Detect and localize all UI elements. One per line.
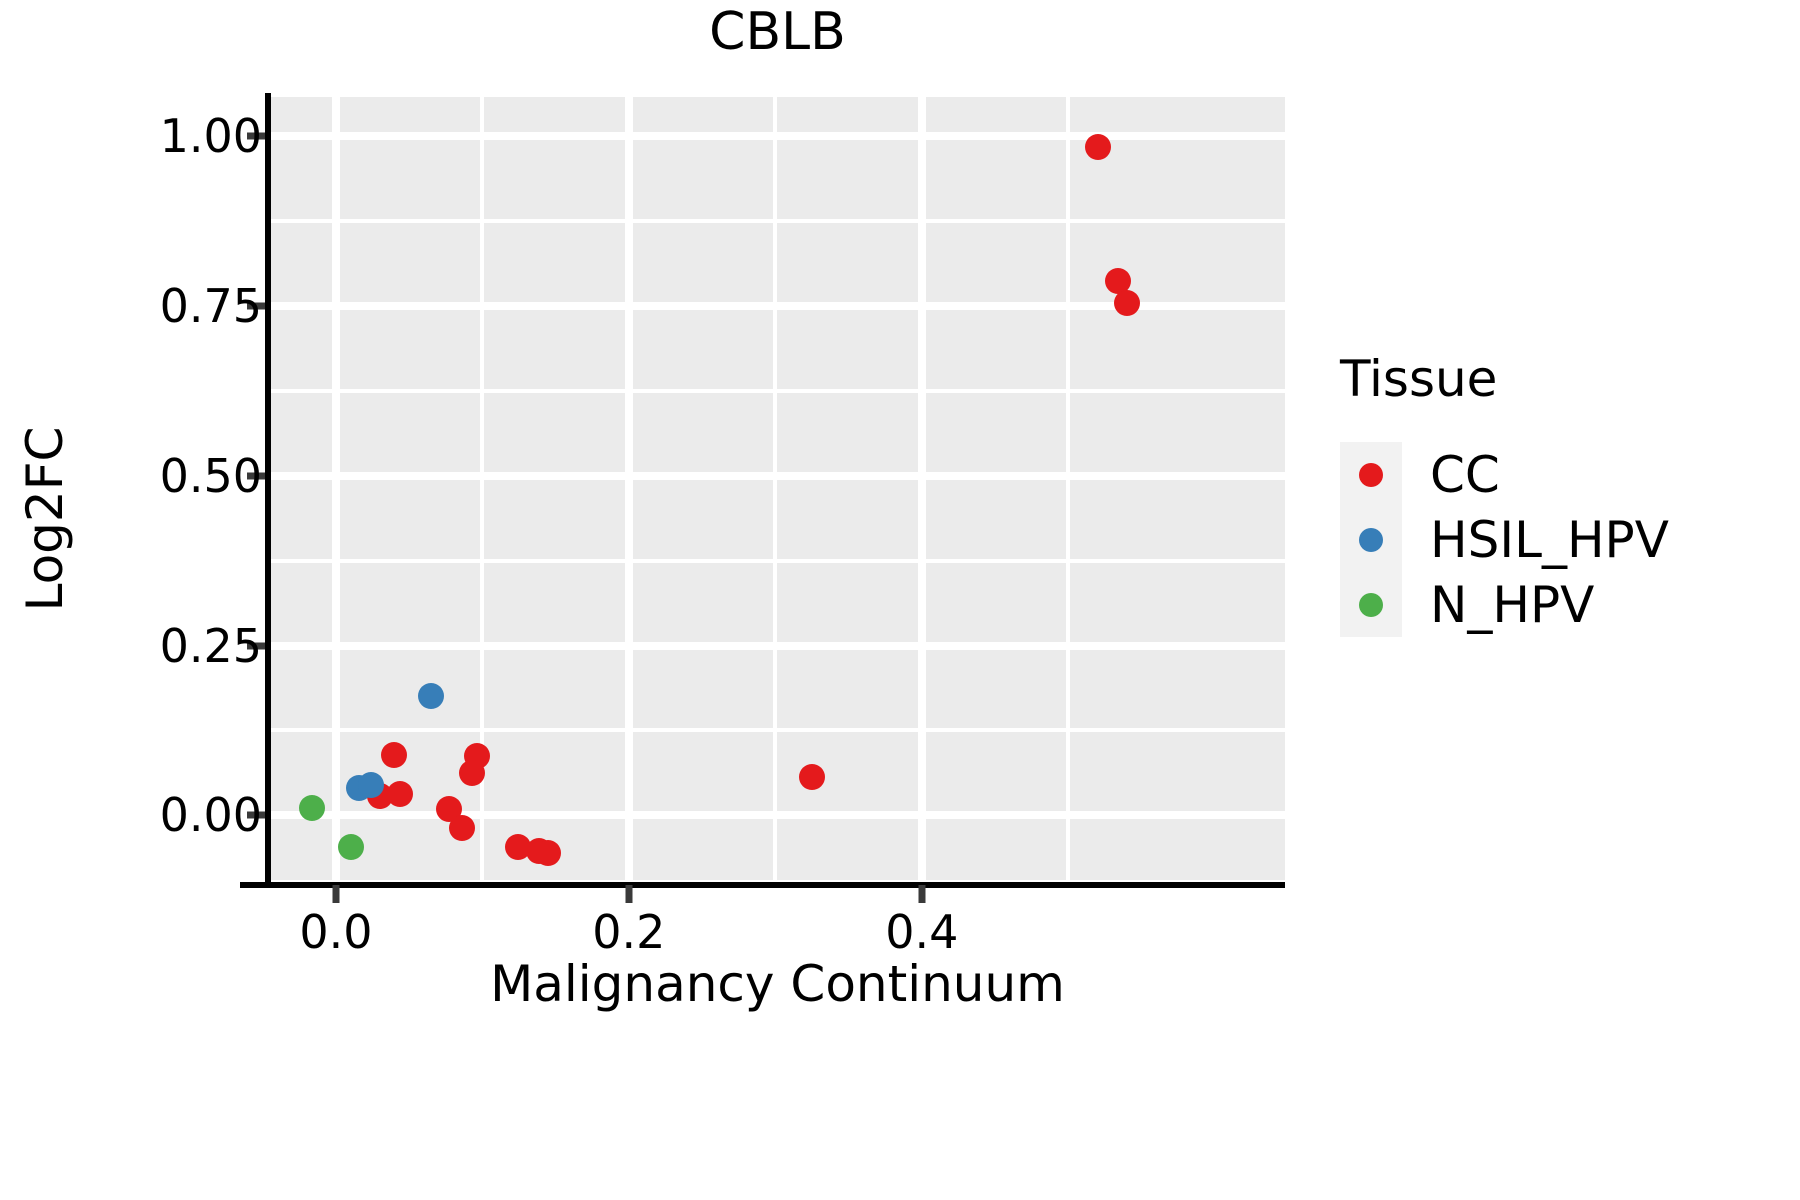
plot-panel	[270, 97, 1285, 880]
data-point-cc	[1085, 134, 1111, 160]
data-point-cc	[535, 840, 561, 866]
legend-items: CCHSIL_HPVN_HPV	[1340, 442, 1770, 637]
gridline-vertical	[1066, 97, 1070, 880]
gridline-vertical	[773, 97, 777, 880]
gridline-horizontal	[270, 132, 1285, 140]
x-tick-mark	[918, 885, 925, 903]
data-point-hsil-hpv	[418, 683, 444, 709]
data-point-cc	[1114, 290, 1140, 316]
y-axis-line	[265, 93, 271, 888]
legend-dot-icon	[1359, 463, 1383, 487]
legend-item-label: HSIL_HPV	[1430, 511, 1669, 569]
gridline-vertical	[918, 97, 926, 880]
data-point-cc	[387, 781, 413, 807]
legend-item-label: CC	[1430, 446, 1500, 504]
legend-title: Tissue	[1340, 350, 1770, 408]
legend-item-cc[interactable]: CC	[1340, 442, 1770, 507]
y-tick-label: 0.75	[160, 279, 262, 333]
x-tick-mark	[625, 885, 632, 903]
y-tick-label: 1.00	[160, 109, 262, 163]
chart-title: CBLB	[270, 6, 1285, 58]
legend-key-swatch	[1340, 442, 1402, 507]
x-axis-line	[240, 882, 1285, 888]
legend-dot-icon	[1359, 528, 1383, 552]
gridline-vertical	[332, 97, 340, 880]
data-point-cc	[459, 760, 485, 786]
y-tick-label: 0.50	[160, 449, 262, 503]
legend-item-hsil-hpv[interactable]: HSIL_HPV	[1340, 507, 1770, 572]
data-point-n-hpv	[338, 834, 364, 860]
gridline-horizontal	[270, 811, 1285, 819]
legend-item-n-hpv[interactable]: N_HPV	[1340, 572, 1770, 637]
x-tick-label: 0.0	[299, 905, 372, 959]
legend: Tissue CCHSIL_HPVN_HPV	[1340, 350, 1770, 637]
data-point-n-hpv	[299, 795, 325, 821]
legend-item-label: N_HPV	[1430, 576, 1594, 634]
y-tick-label: 0.25	[160, 619, 262, 673]
gridline-vertical	[625, 97, 633, 880]
legend-key-swatch	[1340, 507, 1402, 572]
data-point-cc	[381, 742, 407, 768]
gridline-horizontal	[270, 472, 1285, 480]
gridline-horizontal	[270, 642, 1285, 650]
x-axis-title: Malignancy Continuum	[270, 955, 1285, 1013]
scatter-plot-figure: CBLB Log2FC Malignancy Continuum Tissue …	[0, 0, 1800, 1200]
gridline-horizontal	[270, 728, 1285, 732]
x-tick-label: 0.2	[592, 905, 665, 959]
data-point-hsil-hpv	[358, 772, 384, 798]
y-axis-title: Log2FC	[16, 319, 74, 719]
gridline-horizontal	[270, 389, 1285, 393]
legend-dot-icon	[1359, 593, 1383, 617]
data-point-cc	[449, 815, 475, 841]
data-point-cc	[799, 764, 825, 790]
legend-key-swatch	[1340, 572, 1402, 637]
x-tick-label: 0.4	[885, 905, 958, 959]
gridline-horizontal	[270, 559, 1285, 563]
gridline-horizontal	[270, 219, 1285, 223]
x-tick-mark	[332, 885, 339, 903]
y-tick-label: 0.00	[160, 788, 262, 842]
